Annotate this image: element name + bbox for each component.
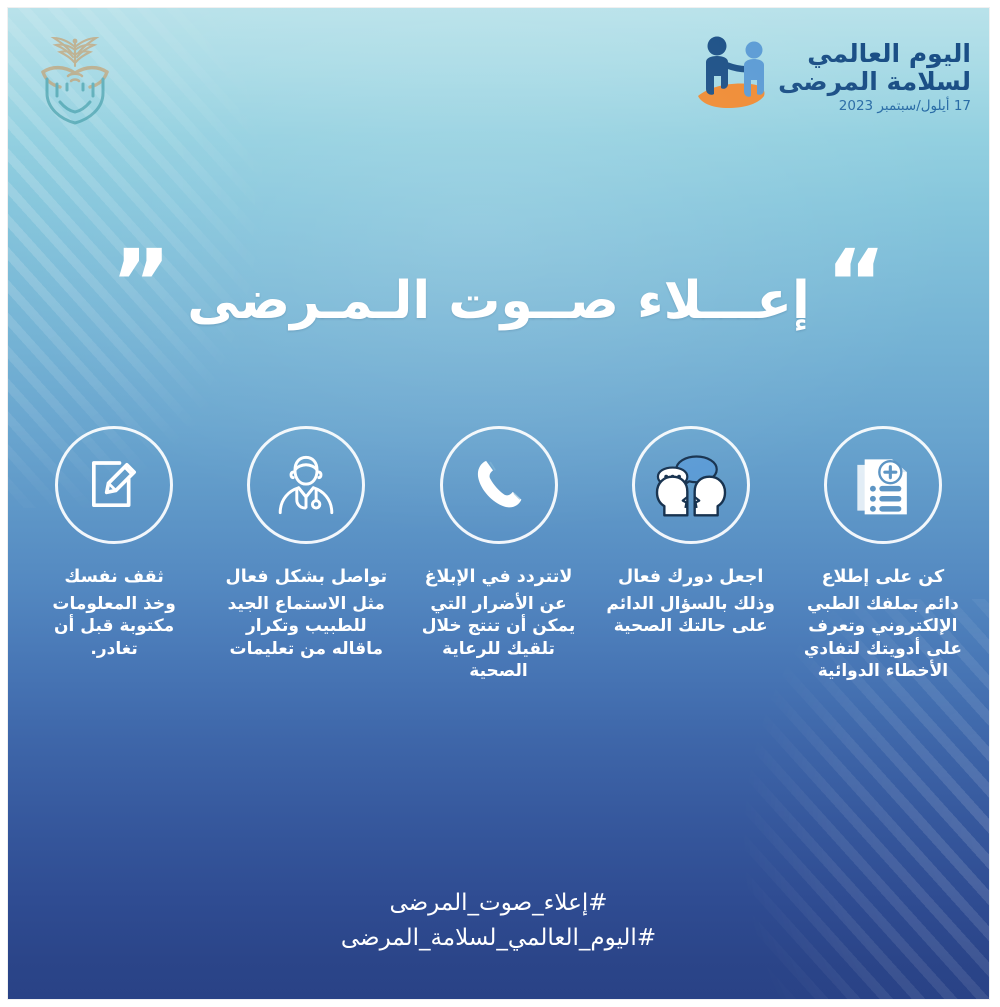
page-title: إعـــلاء صــوت الـمـرضى [181,272,816,336]
tip-card-title: اجعل دورك فعال [608,566,773,591]
quote-open-icon: “ [826,256,886,311]
tip-card-title: ثقف نفسك [54,566,173,591]
hashtag-block: #إعلاء_صوت_المرضى #اليوم_العالمي_لسلامة_… [8,886,989,957]
tip-card-body: وذلك بالسؤال الدائم على حالتك الصحية [598,593,784,638]
telephone-handset-icon [440,426,558,544]
tip-card: لاتتردد في الإبلاغ عن الأضرار التي يمكن … [402,426,594,683]
tip-card: كن على إطلاع دائم بملفك الطبي الإلكتروني… [787,426,979,683]
tip-card-title: تواصل بشكل فعال [216,566,398,591]
quote-close-icon: ” [111,256,171,311]
wpsd-logo: اليوم العالمي لسلامة المرضى 17 أيلول/سبت… [692,32,971,122]
tip-card: اجعل دورك فعال وذلك بالسؤال الدائم على ح… [595,426,787,638]
two-people-handshake-icon [692,32,770,122]
doctor-stethoscope-icon [247,426,365,544]
tip-card-title: لاتتردد في الإبلاغ [415,566,583,591]
medical-record-checklist-icon [824,426,942,544]
hashtag-secondary: #اليوم_العالمي_لسلامة_المرضى [8,921,989,957]
tip-card: تواصل بشكل فعال مثل الاستماع الجيد للطبي… [210,426,402,660]
two-heads-speech-bubbles-icon [632,426,750,544]
document-pencil-edit-icon [55,426,173,544]
poster-canvas: اليوم العالمي لسلامة المرضى 17 أيلول/سبت… [8,8,989,999]
poster-root: اليوم العالمي لسلامة المرضى 17 أيلول/سبت… [0,0,1000,1007]
wpsd-logo-line2: لسلامة المرضى [778,68,971,96]
tip-card: ثقف نفسك وخذ المعلومات مكتوبة قبل أن تغا… [18,426,210,660]
wpsd-logo-line1: اليوم العالمي [778,40,971,68]
headline: “ إعـــلاء صــوت الـمـرضى ” [8,244,989,364]
tip-card-body: دائم بملفك الطبي الإلكتروني وتعرف على أد… [790,593,976,683]
tip-card-body: مثل الاستماع الجيد للطبيب وتكرار ماقاله … [213,593,399,660]
wpsd-logo-date: 17 أيلول/سبتمبر 2023 [778,99,971,114]
tip-card-body: عن الأضرار التي يمكن أن تنتج خلال تلقيك … [406,593,592,683]
tip-card-title: كن على إطلاع [812,566,955,591]
moh-palm-swords-logo-icon [30,32,120,132]
wpsd-logo-text: اليوم العالمي لسلامة المرضى 17 أيلول/سبت… [778,40,971,114]
tips-card-row: ثقف نفسك وخذ المعلومات مكتوبة قبل أن تغا… [18,426,979,683]
tip-card-body: وخذ المعلومات مكتوبة قبل أن تغادر. [21,593,207,660]
hashtag-primary: #إعلاء_صوت_المرضى [8,886,989,922]
